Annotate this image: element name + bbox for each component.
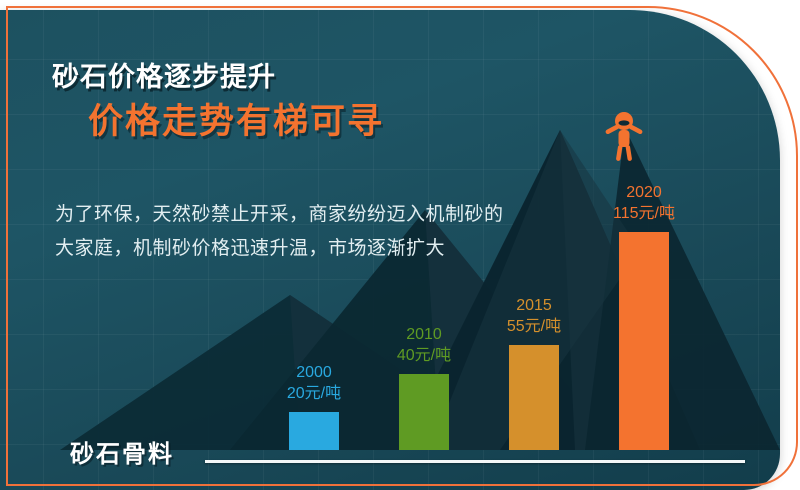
- bar-year: 2015: [464, 295, 604, 316]
- bar-2015: [509, 345, 559, 450]
- bar-label-2000: 200020元/吨: [244, 362, 384, 404]
- bar-2020: [619, 232, 669, 450]
- bar-label-2020: 2020115元/吨: [574, 182, 714, 224]
- headline-small: 砂石价格逐步提升: [52, 62, 522, 93]
- body-paragraph: 为了环保，天然砂禁止开采，商家纷纷迈入机制砂的大家庭，机制砂价格迅速升温，市场逐…: [55, 198, 515, 266]
- headline-block: 砂石价格逐步提升 价格走势有梯可寻: [52, 62, 522, 142]
- bar-price: 20元/吨: [244, 383, 384, 404]
- bar-year: 2020: [574, 182, 714, 203]
- mountain-peak-4: [585, 128, 780, 450]
- footer-label: 砂石骨料: [70, 434, 174, 469]
- bar-2010: [399, 374, 449, 450]
- person-cheering-icon: [603, 110, 645, 162]
- bar-2000: [289, 412, 339, 450]
- bar-price: 55元/吨: [464, 316, 604, 337]
- bar-price: 40元/吨: [354, 345, 494, 366]
- headline-large: 价格走势有梯可寻: [88, 102, 522, 142]
- poster-panel: 砂石价格逐步提升 价格走势有梯可寻 为了环保，天然砂禁止开采，商家纷纷迈入机制砂…: [0, 10, 780, 490]
- infographic-poster: 砂石价格逐步提升 价格走势有梯可寻 为了环保，天然砂禁止开采，商家纷纷迈入机制砂…: [0, 0, 800, 490]
- chart-baseline: [205, 460, 745, 463]
- bar-label-2015: 201555元/吨: [464, 295, 604, 337]
- bar-price: 115元/吨: [574, 203, 714, 224]
